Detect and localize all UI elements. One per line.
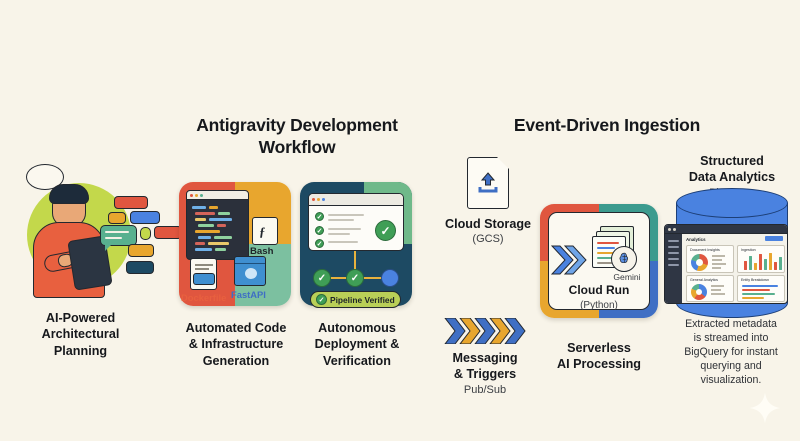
card-title: Document Insights — [690, 248, 720, 252]
message-chip-4 — [140, 227, 151, 240]
caption-line2: Architectural — [8, 326, 153, 342]
note-line3: BigQuery for instant — [664, 346, 798, 360]
dashboard-chart-card-3[interactable]: General Analytics — [686, 275, 734, 302]
dashboard-chart-card-2[interactable]: Ingestion — [737, 245, 785, 273]
section-title-left-line1: Antigravity Development — [172, 114, 422, 136]
checklist-window: ✓ ✓ ✓ ✓ — [308, 193, 404, 251]
caption-line2: Data Analytics — [668, 169, 796, 185]
upload-document-icon — [467, 157, 509, 209]
checklist-window-titlebar — [309, 194, 403, 206]
pipeline-connector-vertical — [354, 251, 356, 271]
caption-line1: Serverless — [538, 340, 660, 356]
pipeline-node-2: ✓ — [346, 269, 364, 287]
caption-ai-powered-planning: AI-Powered Architectural Planning — [8, 310, 153, 359]
dashboard-action-button[interactable] — [765, 236, 783, 241]
caption-cloud-run-inner: Cloud Run (Python) — [540, 283, 658, 312]
section-title-right-line1: Event-Driven Ingestion — [482, 114, 732, 136]
caption-line3: Planning — [8, 343, 153, 359]
pipeline-node-3 — [381, 269, 399, 287]
gemini-brain-icon — [611, 246, 637, 272]
pipeline-node-1: ✓ — [313, 269, 331, 287]
dashboard-chart-card-4[interactable]: Entity Breakdown — [737, 275, 785, 302]
caption-messaging-triggers: Messaging & Triggers Pub/Sub — [424, 350, 546, 397]
caption-sub: Pub/Sub — [424, 383, 546, 397]
analytics-dashboard-window: Analytics Document Insights Ingestion — [664, 224, 788, 304]
caption-line1: Structured — [668, 153, 796, 169]
code-editor-window — [186, 190, 249, 260]
note-structured-data-analytics: Extracted metadata is streamed into BigQ… — [664, 318, 798, 388]
caption-line1: Automated Code — [170, 320, 302, 336]
checklist-main-check: ✓ — [375, 220, 396, 241]
badge-check-icon: ✓ — [316, 294, 327, 305]
caption-line1: AI-Powered — [8, 310, 153, 326]
code-editor-titlebar — [187, 191, 248, 200]
upload-arrow-icon — [476, 169, 500, 195]
caption-line1: Cloud Storage — [427, 216, 549, 232]
checklist-check-3: ✓ — [315, 239, 324, 248]
message-chip-6 — [128, 244, 154, 257]
dockerfile-icon-label: Dockerfile — [181, 292, 226, 303]
sparkle-icon — [748, 391, 782, 425]
caption-line1: Autonomous — [296, 320, 418, 336]
dashboard-title: Analytics — [686, 237, 706, 242]
badge-label: Pipeline Verified — [330, 295, 395, 305]
pipeline-verified-badge: ✓ Pipeline Verified — [310, 291, 401, 308]
caption-sub: (GCS) — [427, 232, 549, 246]
dockerfile-icon — [190, 258, 217, 290]
caption-line2: Deployment & — [296, 336, 418, 352]
dashboard-titlebar — [665, 225, 787, 234]
message-chip-1 — [114, 196, 148, 209]
card-title: Ingestion — [741, 248, 756, 252]
document-fold-corner — [497, 157, 509, 169]
note-line5: visualization. — [664, 374, 798, 388]
caption-line1: Messaging — [424, 350, 546, 366]
chevrons-icon — [443, 318, 527, 344]
dashboard-sidebar — [665, 234, 682, 303]
donut-chart — [691, 254, 708, 271]
caption-serverless-ai: Serverless AI Processing — [538, 340, 660, 373]
infographic-canvas: Antigravity Development Workflow Event-D… — [0, 0, 800, 441]
donut-chart — [691, 284, 707, 300]
section-title-right: Event-Driven Ingestion — [482, 114, 732, 136]
caption-line1: Cloud Run — [540, 283, 658, 299]
caption-line2: & Triggers — [424, 366, 546, 382]
cloud-run-logo-icon — [551, 243, 593, 277]
gemini-badge-label: Gemini — [605, 272, 649, 282]
checklist-check-1: ✓ — [315, 212, 324, 221]
caption-line2: AI Processing — [538, 356, 660, 372]
caption-line2: & Infrastructure — [170, 336, 302, 352]
chat-bubble-icon — [100, 225, 137, 246]
caption-line3: Verification — [296, 353, 418, 369]
message-chip-7 — [126, 261, 154, 274]
chat-bubble-tail — [105, 244, 112, 251]
caption-autonomous-deployment: Autonomous Deployment & Verification — [296, 320, 418, 369]
message-chip-2 — [108, 212, 126, 224]
section-title-left: Antigravity Development Workflow — [172, 114, 422, 159]
checklist-check-2: ✓ — [315, 226, 324, 235]
card-title: General Analytics — [690, 278, 718, 282]
person-hair — [49, 184, 89, 204]
message-chip-5 — [154, 226, 182, 239]
fastapi-icon-label: FastAPI — [231, 289, 266, 300]
caption-line3: Generation — [170, 353, 302, 369]
caption-sub: (Python) — [540, 299, 658, 312]
message-chip-3 — [130, 211, 160, 224]
note-line1: Extracted metadata — [664, 318, 798, 332]
database-cylinder-top — [676, 188, 788, 218]
note-line2: is streamed into — [664, 332, 798, 346]
section-title-left-line2: Workflow — [172, 136, 422, 158]
caption-automated-code: Automated Code & Infrastructure Generati… — [170, 320, 302, 369]
card-title: Entity Breakdown — [741, 278, 769, 282]
bash-icon: ƒ — [252, 217, 278, 245]
note-line4: querying and — [664, 360, 798, 374]
caption-cloud-storage: Cloud Storage (GCS) — [427, 216, 549, 247]
dashboard-chart-card-1[interactable]: Document Insights — [686, 245, 734, 273]
fastapi-icon — [234, 256, 266, 286]
